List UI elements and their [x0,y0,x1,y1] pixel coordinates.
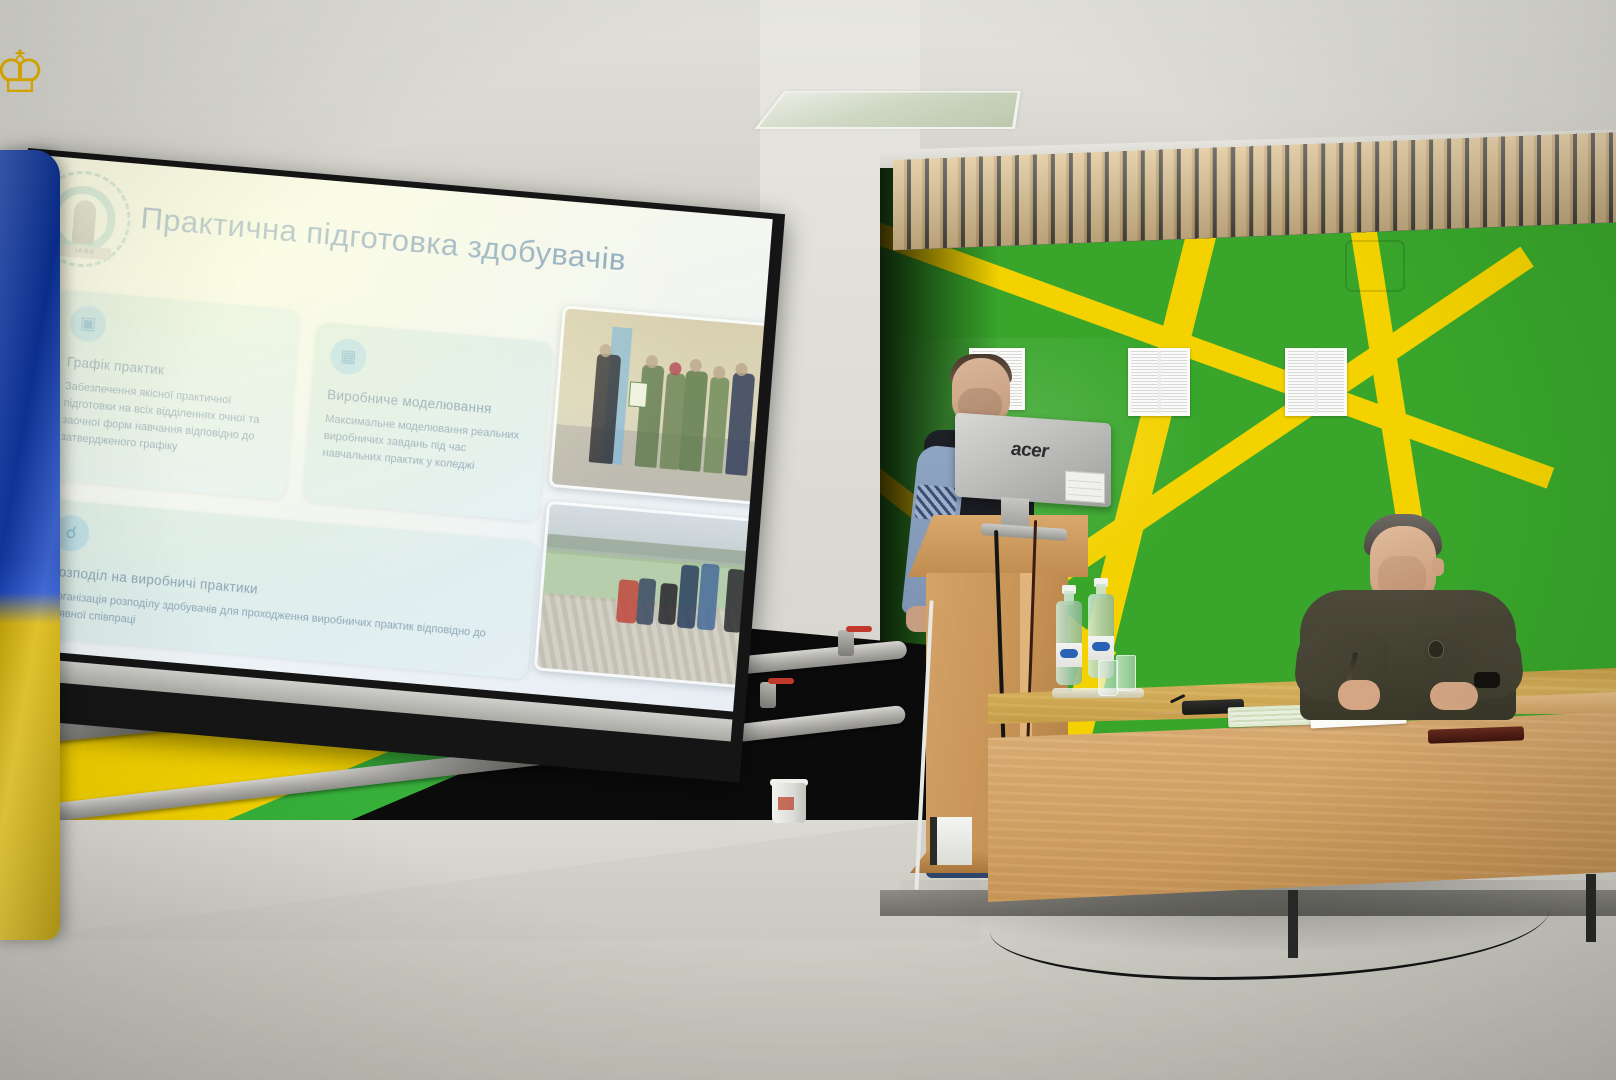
pipe-valve [760,682,776,708]
factory-icon: ▦ [329,337,368,376]
slide-card-production-modelling: ▦ Виробниче моделювання Максимальне моде… [303,322,553,522]
wall-panel-outline [1345,240,1405,292]
slide-surface: ІАФК Практична підготовка здобувачів ▣ Г… [0,155,773,712]
water-bottle [1056,585,1082,685]
photo-field-practice [534,501,773,690]
bottle-label [1088,636,1114,660]
pipe-valve [838,630,854,656]
seated-left-hand [1338,680,1380,710]
slide-title: Практична підготовка здобувачів [139,200,760,290]
lectern-paper-box [930,817,972,865]
ukrainian-flag [0,150,60,940]
acer-monitor: acer [955,418,1111,538]
valve-handle [768,678,794,684]
wall-vent-icon [1285,348,1347,416]
table-leg [1586,874,1596,942]
trident-emblem-icon: ♔ [0,44,46,116]
room-photo-scene: ІАФК Практична підготовка здобувачів ▣ Г… [0,0,1616,1080]
paint-bucket [772,783,806,823]
table-leg [1288,890,1298,958]
slide-card-placement-distribution: ☌ Розподіл на виробничі практики Організ… [29,498,538,679]
sweater-logo [1428,640,1444,658]
valve-handle [846,626,872,632]
card-body: Максимальне моделювання реальних виробни… [322,411,529,480]
monitor-rear-sticker [1065,471,1105,504]
slide-card-practice-schedule: ▣ Графік практик Забезпечення якісної пр… [42,289,300,500]
projection-screen: ІАФК Практична підготовка здобувачів ▣ Г… [0,148,785,782]
seated-man-at-table [1286,512,1526,718]
wristwatch [1474,672,1500,688]
ceiling-light-panel [754,91,1020,129]
drinking-glass [1116,655,1136,691]
seated-right-hand [1430,682,1478,710]
wall-vent-icon [1128,348,1190,416]
photo-students-certificate [549,305,773,506]
card-body: Забезпечення якісної практичної підготов… [60,378,277,464]
drinking-glass [1098,660,1118,696]
bottle-label [1056,643,1082,667]
monitor-brand-label: acer [1011,439,1048,464]
table-front-panel [988,712,1616,902]
emblem-caption: ІАФК [58,244,111,260]
calendar-icon: ▣ [69,304,108,343]
